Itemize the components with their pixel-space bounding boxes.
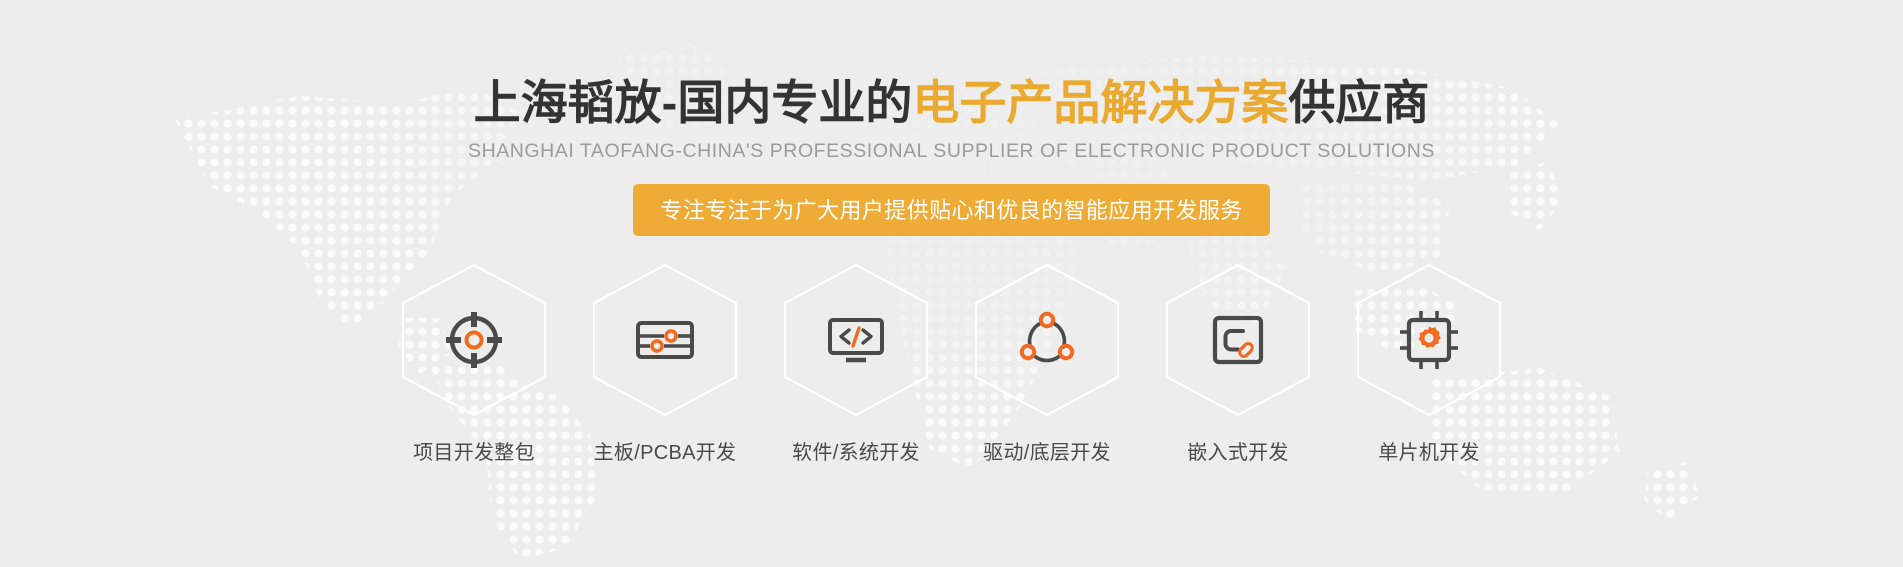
service-item-software-system[interactable]: 软件/系统开发 [771,262,941,465]
service-label: 驱动/底层开发 [983,436,1111,465]
hero-banner: 上海韬放-国内专业的电子产品解决方案供应商 SHANGHAI TAOFANG-C… [0,0,1903,567]
service-label: 嵌入式开发 [1187,436,1289,465]
service-item-embedded[interactable]: 嵌入式开发 [1153,262,1323,465]
service-label: 软件/系统开发 [792,436,920,465]
service-item-mainboard-pcba[interactable]: 主板/PCBA开发 [580,262,750,465]
service-list: 项目开发整包 [389,262,1514,465]
circuit-board-icon [632,307,698,373]
service-label: 单片机开发 [1378,436,1480,465]
service-label: 主板/PCBA开发 [594,436,737,465]
hexagon-frame [590,262,740,418]
embedded-chip-link-icon [1205,307,1271,373]
hexagon-frame [1354,262,1504,418]
banner-content: 上海韬放-国内专业的电子产品解决方案供应商 SHANGHAI TAOFANG-C… [0,0,1903,567]
hexagon-frame [972,262,1122,418]
node-network-icon [1014,307,1080,373]
service-item-mcu[interactable]: 单片机开发 [1344,262,1514,465]
subtitle-english: SHANGHAI TAOFANG-CHINA'S PROFESSIONAL SU… [468,140,1435,163]
crosshair-target-icon [441,307,507,373]
headline-highlight: 电子产品解决方案 [912,76,1288,129]
hexagon-frame [781,262,931,418]
service-label: 项目开发整包 [413,436,535,465]
hexagon-frame [1163,262,1313,418]
page-title: 上海韬放-国内专业的电子产品解决方案供应商 [474,78,1430,127]
headline-tail: 供应商 [1288,76,1429,129]
service-item-driver-lowlevel[interactable]: 驱动/底层开发 [962,262,1132,465]
headline-lead: 上海韬放-国内专业的 [474,76,913,129]
tagline-badge: 专注专注于为广大用户提供贴心和优良的智能应用开发服务 [633,184,1269,236]
monitor-code-icon [823,307,889,373]
hexagon-frame [399,262,549,418]
microcontroller-gear-icon [1396,307,1462,373]
service-item-project-package[interactable]: 项目开发整包 [389,262,559,465]
